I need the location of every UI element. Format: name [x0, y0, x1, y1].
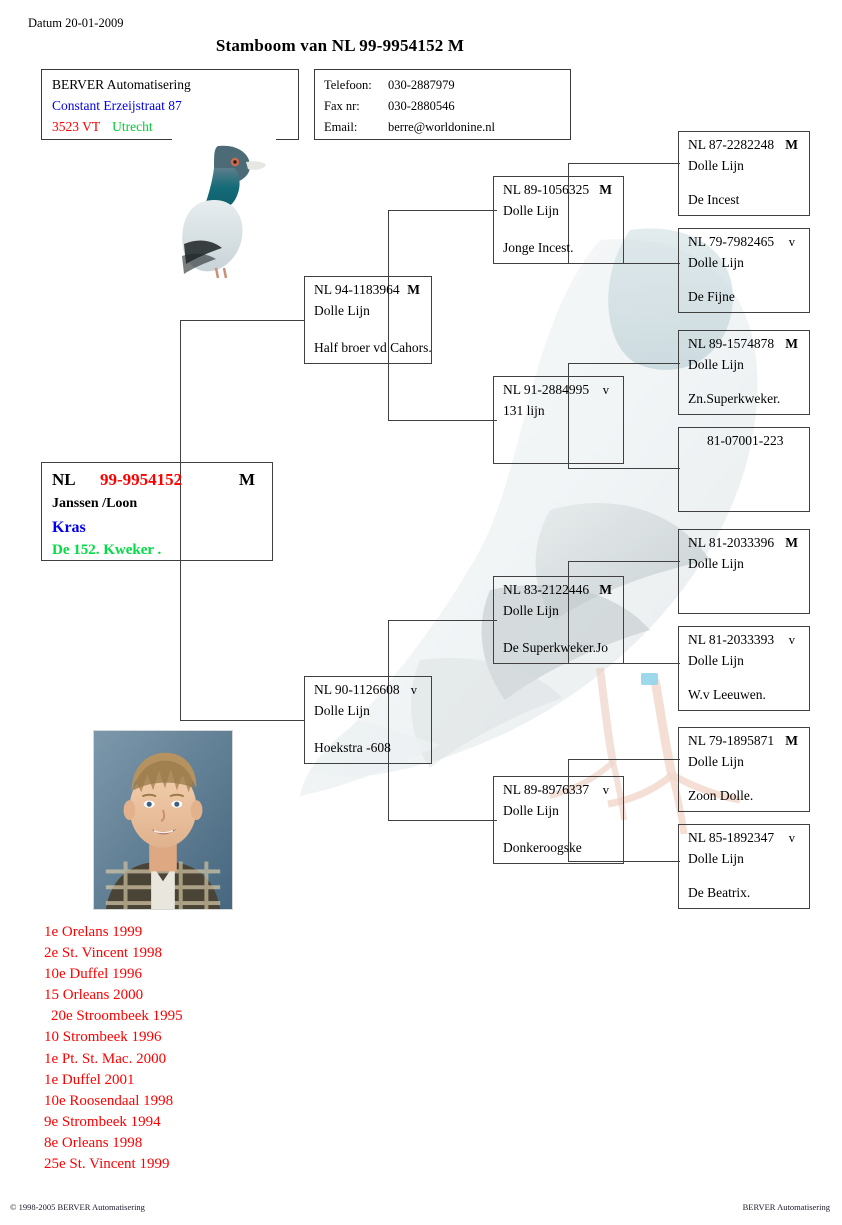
gen4-1-ring: NL 87-2282248: [688, 137, 774, 153]
gen2-sire-sex: M: [407, 282, 420, 298]
connector-dam-to-gen3-bottom: [388, 820, 497, 821]
gen2-sire-card[interactable]: NL 94-1183964 M Dolle Lijn Half broer vd…: [304, 276, 432, 364]
connector-sire-to-gen3-bottom: [388, 420, 497, 421]
gen4-8-note: De Beatrix.: [688, 885, 750, 901]
gen2-dam-sex: v: [411, 683, 417, 698]
gen4-8-sex: v: [789, 831, 795, 846]
gen3-3-sex: M: [599, 582, 612, 598]
pedigree-page: Datum 20-01-2009 Stamboom van NL 99-9954…: [0, 0, 842, 1225]
race-result-item: 1e Duffel 2001: [44, 1070, 364, 1091]
gen4-7-sex: M: [785, 733, 798, 749]
gen4-6-sex: v: [789, 633, 795, 648]
gen3-card-1[interactable]: NL 89-1056325 M Dolle Lijn Jonge Incest.: [493, 176, 624, 264]
gen4-5-strain: Dolle Lijn: [688, 556, 744, 572]
company-zip: 3523 VT: [52, 119, 100, 134]
company-contact-box: Telefoon: 030-2887979 Fax nr: 030-288054…: [314, 69, 571, 140]
footer-copyright: © 1998-2005 BERVER Automatisering: [10, 1202, 145, 1212]
gen2-dam-ring: NL 90-1126608: [314, 682, 400, 698]
gen4-4-ring: 81-07001-223: [707, 433, 784, 449]
fax-label: Fax nr:: [324, 99, 360, 114]
gen4-6-strain: Dolle Lijn: [688, 653, 744, 669]
connector-g3c-top: [568, 561, 680, 562]
gen2-sire-note: Half broer vd Cahors.: [314, 340, 432, 356]
gen4-3-sex: M: [785, 336, 798, 352]
connector-g3d-top: [568, 759, 680, 760]
gen3-2-ring: NL 91-2884995: [503, 382, 589, 398]
gen4-2-ring: NL 79-7982465: [688, 234, 774, 250]
gen4-8-ring: NL 85-1892347: [688, 830, 774, 846]
race-result-item: 8e Orleans 1998: [44, 1133, 364, 1154]
gen3-1-strain: Dolle Lijn: [503, 203, 559, 219]
gen3-4-ring: NL 89-8976337: [503, 782, 589, 798]
gen3-1-note: Jonge Incest.: [503, 240, 573, 256]
race-result-item: 1e Pt. St. Mac. 2000: [44, 1049, 364, 1070]
race-result-item: 25e St. Vincent 1999: [44, 1154, 364, 1175]
gen3-1-ring: NL 89-1056325: [503, 182, 589, 198]
page-title: Stamboom van NL 99-9954152 M: [0, 36, 680, 56]
gen4-3-ring: NL 89-1574878: [688, 336, 774, 352]
child-portrait-photo: [93, 730, 233, 910]
gen4-3-note: Zn.Superkweker.: [688, 391, 780, 407]
gen4-card-6[interactable]: NL 81-2033393 v Dolle Lijn W.v Leeuwen.: [678, 626, 810, 711]
connector-g3b-top: [568, 363, 680, 364]
phone-label: Telefoon:: [324, 78, 372, 93]
footer-company: BERVER Automatisering: [743, 1202, 830, 1212]
gen2-sire-ring: NL 94-1183964: [314, 282, 400, 298]
gen4-1-sex: M: [785, 137, 798, 153]
gen4-card-3[interactable]: NL 89-1574878 M Dolle Lijn Zn.Superkweke…: [678, 330, 810, 415]
subject-colour: Kras: [52, 519, 86, 537]
gen4-7-strain: Dolle Lijn: [688, 754, 744, 770]
race-result-item: 20e Stroombeek 1995: [44, 1006, 364, 1027]
race-result-item: 9e Strombeek 1994: [44, 1112, 364, 1133]
race-result-item: 10e Roosendaal 1998: [44, 1091, 364, 1112]
gen4-7-ring: NL 79-1895871: [688, 733, 774, 749]
gen3-4-sex: v: [603, 783, 609, 798]
gen4-2-note: De Fijne: [688, 289, 735, 305]
connector-subject-to-top: [180, 320, 304, 321]
race-result-item: 15 Orleans 2000: [44, 985, 364, 1006]
gen4-5-sex: M: [785, 535, 798, 551]
connector-g3a-top: [568, 163, 680, 164]
race-results-list: 1e Orelans 19992e St. Vincent 199810e Du…: [44, 922, 364, 1175]
gen3-3-note: De Superkweker.Jo: [503, 640, 608, 656]
gen4-1-note: De Incest: [688, 192, 739, 208]
gen3-card-2[interactable]: NL 91-2884995 v 131 lijn: [493, 376, 624, 464]
gen2-dam-card[interactable]: NL 90-1126608 v Dolle Lijn Hoekstra -608: [304, 676, 432, 764]
gen3-3-ring: NL 83-2122446: [503, 582, 589, 598]
subject-country: NL: [52, 470, 76, 490]
company-street: Constant Erzeijstraat 87: [52, 98, 182, 114]
gen4-card-5[interactable]: NL 81-2033396 M Dolle Lijn: [678, 529, 810, 614]
race-result-item: 1e Orelans 1999: [44, 922, 364, 943]
gen4-6-ring: NL 81-2033393: [688, 632, 774, 648]
gen3-2-strain: 131 lijn: [503, 403, 545, 419]
document-date: Datum 20-01-2009: [28, 16, 123, 31]
connector-g3b-bottom: [568, 468, 680, 469]
gen3-card-3[interactable]: NL 83-2122446 M Dolle Lijn De Superkweke…: [493, 576, 624, 664]
gen3-4-note: Donkeroogske: [503, 840, 582, 856]
email-label: Email:: [324, 120, 357, 135]
company-address-box: BERVER Automatisering Constant Erzeijstr…: [41, 69, 299, 140]
gen2-sire-strain: Dolle Lijn: [314, 303, 370, 319]
gen3-3-strain: Dolle Lijn: [503, 603, 559, 619]
gen4-2-strain: Dolle Lijn: [688, 255, 744, 271]
pigeon-portrait-photo: [172, 138, 276, 280]
subject-sex: M: [239, 470, 255, 490]
gen4-8-strain: Dolle Lijn: [688, 851, 744, 867]
gen3-card-4[interactable]: NL 89-8976337 v Dolle Lijn Donkeroogske: [493, 776, 624, 864]
gen4-7-note: Zoon Dolle.: [688, 788, 753, 804]
fax-value: 030-2880546: [388, 99, 455, 114]
gen4-card-4[interactable]: 81-07001-223: [678, 427, 810, 512]
subject-nickname: De 152. Kweker .: [52, 542, 161, 559]
company-city: Utrecht: [100, 119, 152, 134]
gen2-dam-strain: Dolle Lijn: [314, 703, 370, 719]
gen3-2-sex: v: [603, 383, 609, 398]
company-name: BERVER Automatisering: [52, 77, 191, 93]
connector-subject-to-bottom: [180, 720, 304, 721]
gen2-dam-note: Hoekstra -608: [314, 740, 391, 756]
gen4-6-note: W.v Leeuwen.: [688, 687, 766, 703]
subject-ring-number: 99-9954152: [100, 470, 182, 490]
gen4-card-8[interactable]: NL 85-1892347 v Dolle Lijn De Beatrix.: [678, 824, 810, 909]
race-result-item: 2e St. Vincent 1998: [44, 943, 364, 964]
gen4-2-sex: v: [789, 235, 795, 250]
gen4-5-ring: NL 81-2033396: [688, 535, 774, 551]
email-value: berre@worldonine.nl: [388, 120, 495, 135]
gen3-4-strain: Dolle Lijn: [503, 803, 559, 819]
gen4-card-1[interactable]: NL 87-2282248 M Dolle Lijn De Incest: [678, 131, 810, 216]
connector-dam-to-gen3-top: [388, 620, 497, 621]
race-result-item: 10e Duffel 1996: [44, 964, 364, 985]
company-city-line: 3523 VTUtrecht: [52, 119, 153, 135]
gen4-card-2[interactable]: NL 79-7982465 v Dolle Lijn De Fijne: [678, 228, 810, 313]
connector-sire-to-gen3-top: [388, 210, 497, 211]
gen4-3-strain: Dolle Lijn: [688, 357, 744, 373]
subject-strain: Janssen /Loon: [52, 496, 137, 512]
gen4-1-strain: Dolle Lijn: [688, 158, 744, 174]
race-result-item: 10 Strombeek 1996: [44, 1027, 364, 1048]
gen3-1-sex: M: [599, 182, 612, 198]
gen4-card-7[interactable]: NL 79-1895871 M Dolle Lijn Zoon Dolle.: [678, 727, 810, 812]
phone-value: 030-2887979: [388, 78, 455, 93]
subject-pigeon-card[interactable]: NL 99-9954152 M Janssen /Loon Kras De 15…: [41, 462, 273, 561]
